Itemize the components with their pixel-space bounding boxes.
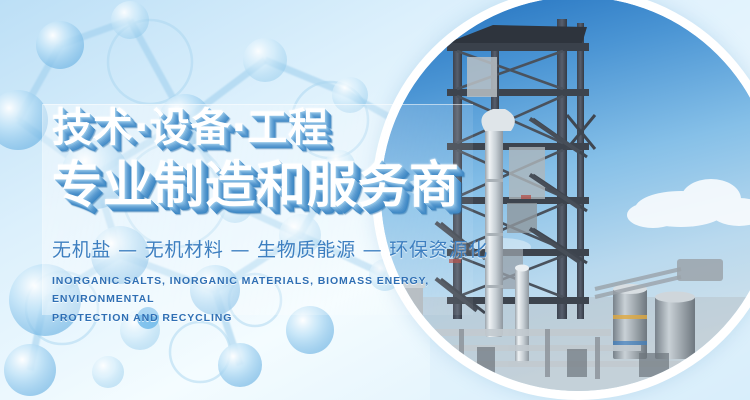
hero-banner: 技术·设备·工程 专业制造和服务商 无机盐 — 无机材料 — 生物质能源 — 环…: [0, 0, 750, 400]
subtitle-chinese: 无机盐 — 无机材料 — 生物质能源 — 环保资源化: [52, 235, 482, 262]
page-title-line2: 专业制造和服务商: [52, 160, 482, 210]
page-title-line1: 技术·设备·工程: [52, 108, 482, 148]
subtitle-english-line1: INORGANIC SALTS, INORGANIC MATERIALS, BI…: [52, 275, 429, 305]
subtitle-english: INORGANIC SALTS, INORGANIC MATERIALS, BI…: [52, 272, 452, 327]
subtitle-english-line2: PROTECTION AND RECYCLING: [52, 312, 232, 324]
hero-text-block: 技术·设备·工程 专业制造和服务商 无机盐 — 无机材料 — 生物质能源 — 环…: [52, 108, 482, 327]
